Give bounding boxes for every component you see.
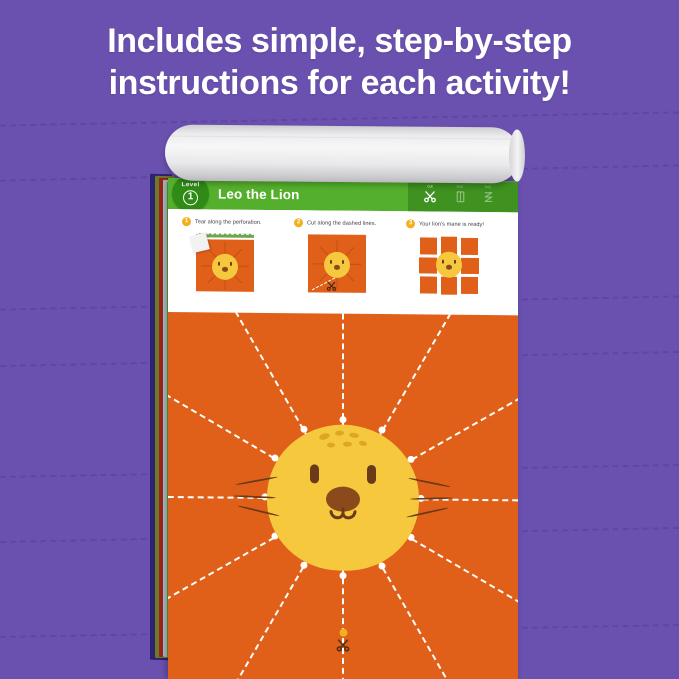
cut-tool-icon: cut <box>418 184 442 208</box>
step-thumbnail <box>416 233 482 296</box>
instruction-step: 1 Tear along the perforation. <box>182 217 294 294</box>
lion-eye-right <box>367 464 376 483</box>
step-number: 1 <box>182 217 191 226</box>
scissors-icon <box>336 638 351 653</box>
step-text: Cut along the dashed lines. <box>307 220 376 227</box>
level-badge-number: 1 <box>183 190 198 205</box>
step-thumbnail <box>304 232 370 295</box>
activity-page: Level 1 Leo the Lion cut tear fold <box>168 178 518 679</box>
step-text: Your lion's mane is ready! <box>419 221 484 228</box>
step-thumbnail <box>192 231 258 294</box>
lion-eye-left <box>310 464 319 483</box>
activity-artwork <box>168 312 518 679</box>
tear-tool-icon: tear <box>448 185 472 209</box>
paper-roll-curl <box>165 124 520 183</box>
instruction-step: 3 Your lion's mane is ready! <box>406 219 518 296</box>
lion-face-illustration <box>267 423 419 570</box>
headline-line-2: instructions for each activity! <box>0 62 679 104</box>
activity-title: Leo the Lion <box>218 186 299 202</box>
level-badge: Level 1 <box>172 178 209 212</box>
cut-marker <box>336 629 351 653</box>
page-header-bar: Level 1 Leo the Lion cut tear fold <box>168 178 518 212</box>
lion-mouth <box>328 507 358 523</box>
step-number: 2 <box>294 218 303 227</box>
cut-tool-label: cut <box>427 184 432 188</box>
instruction-steps: 1 Tear along the perforation. <box>168 209 518 315</box>
instruction-step: 2 Cut along the dashed lines. <box>294 218 406 295</box>
step-text: Tear along the perforation. <box>195 219 262 226</box>
tear-tool-label: tear <box>457 185 464 189</box>
level-badge-word: Level <box>181 183 199 189</box>
step-number: 3 <box>406 219 415 228</box>
headline-line-1: Includes simple, step-by-step <box>0 20 679 62</box>
scissors-icon <box>326 279 337 297</box>
page-title: Includes simple, step-by-step instructio… <box>0 20 679 104</box>
fold-tool-label: fold <box>485 185 491 189</box>
fold-tool-icon: fold <box>476 185 500 209</box>
